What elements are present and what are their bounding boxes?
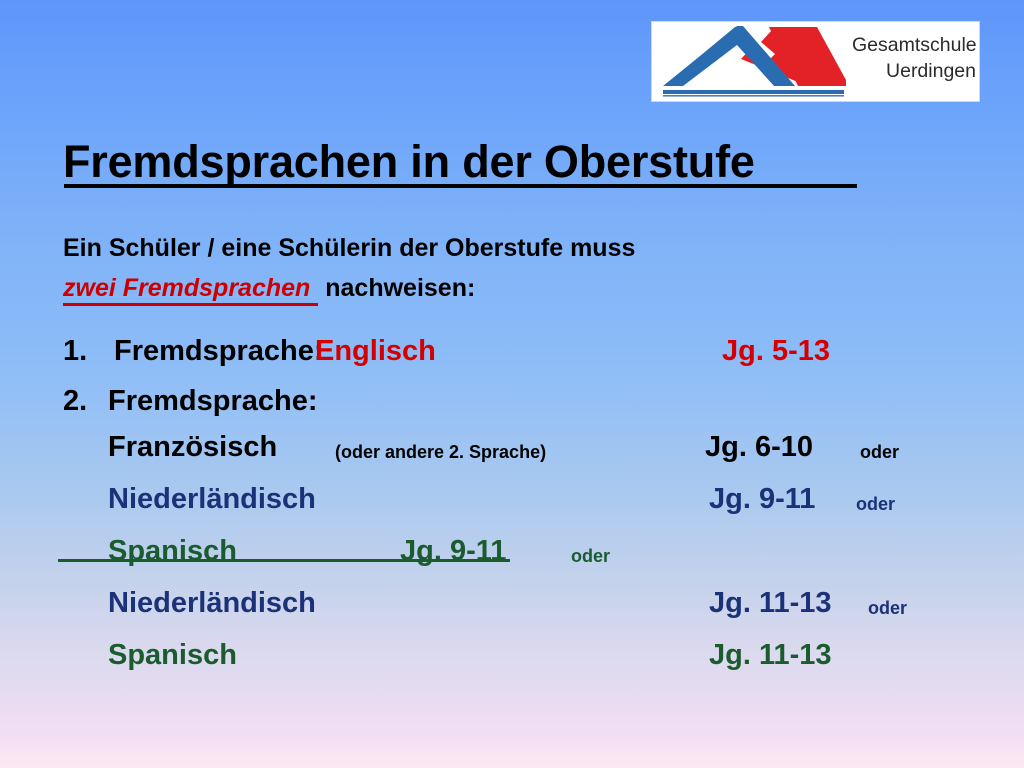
list-grade-1: Jg. 5-13: [722, 335, 830, 368]
intro-paragraph: Ein Schüler / eine Schülerin der Oberstu…: [63, 228, 635, 308]
list-language-6: Niederländisch: [108, 587, 316, 620]
list-trailing-6: oder: [868, 598, 907, 619]
list-language-5: Spanisch: [108, 535, 237, 568]
list-grade-4: Jg. 9-11: [709, 483, 815, 516]
intro-line-2: zwei Fremdsprachen nachweisen:: [63, 268, 635, 308]
list-language-4: Niederländisch: [108, 483, 316, 516]
intro-line-1: Ein Schüler / eine Schülerin der Oberstu…: [63, 228, 635, 268]
list-marker-2: 2.: [63, 385, 87, 418]
logo-mountain-icon: [661, 24, 846, 101]
intro-emphasis: zwei Fremdsprachen: [63, 274, 318, 306]
presentation-slide: Gesamtschule Uerdingen Fremdsprachen in …: [0, 0, 1024, 768]
list-grade-7: Jg. 11-13: [709, 639, 832, 672]
list-item: Niederländisch Jg. 9-11 oder: [63, 483, 963, 535]
list-marker-1: 1.: [63, 335, 87, 368]
list-item: Niederländisch Jg. 11-13 oder: [63, 587, 963, 639]
list-trailing-5: oder: [571, 546, 610, 567]
list-trailing-4: oder: [856, 494, 895, 515]
list-grade-6: Jg. 11-13: [709, 587, 832, 620]
list-grade-3: Jg. 6-10: [705, 431, 813, 464]
intro-line-2-rest: nachweisen:: [318, 274, 475, 302]
logo-wordmark: Gesamtschule Uerdingen: [852, 32, 976, 84]
list-item: 2. Fremdsprache:: [63, 385, 963, 431]
logo-line-2: Uerdingen: [852, 58, 976, 84]
logo-line-1: Gesamtschule: [852, 32, 976, 58]
list-item: 1. Fremdsprache: Englisch Jg. 5-13: [63, 333, 963, 385]
list-note-3: (oder andere 2. Sprache): [335, 442, 546, 463]
language-requirements-list: 1. Fremdsprache: Englisch Jg. 5-13 2. Fr…: [63, 333, 963, 691]
list-trailing-3: oder: [860, 442, 899, 463]
slide-title: Fremdsprachen in der Oberstufe: [63, 136, 755, 188]
list-label-2: Fremdsprache:: [108, 385, 318, 418]
list-label-1: Fremdsprache:: [114, 335, 324, 368]
title-underline: [64, 184, 857, 188]
school-logo: Gesamtschule Uerdingen: [651, 21, 980, 102]
list-item: Spanisch Jg. 11-13: [63, 639, 963, 691]
strikethrough-rule: [58, 559, 510, 562]
list-language-3: Französisch: [108, 431, 277, 464]
list-grade-5: Jg. 9-11: [400, 535, 506, 568]
list-language-7: Spanisch: [108, 639, 237, 672]
list-language-1: Englisch: [315, 335, 436, 368]
list-item: Französisch (oder andere 2. Sprache) Jg.…: [63, 431, 963, 483]
